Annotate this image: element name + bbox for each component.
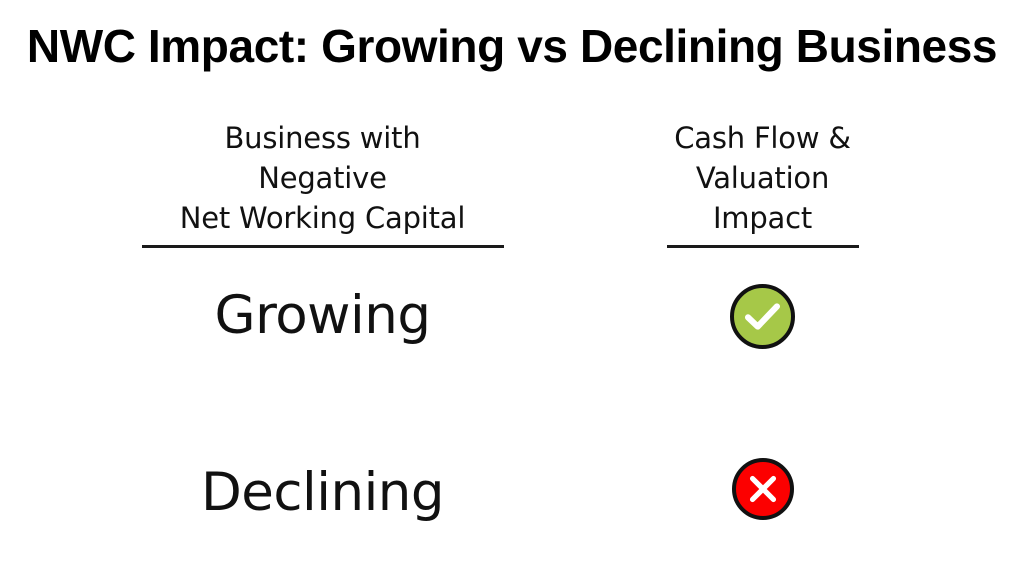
column-header-line-2: Negative [100,158,545,198]
table-column-business-type: Business with Negative Net Working Capit… [100,118,545,248]
table-column-impact: Cash Flow & Valuation Impact [600,118,925,248]
column-header-line-1: Business with [100,118,545,158]
column-header-divider [667,245,859,248]
column-header-line-1: Cash Flow & [600,118,925,158]
column-header-impact: Cash Flow & Valuation Impact [600,118,925,238]
table-row-growing-label: Growing [100,286,545,346]
table-cell-growing-impact [600,284,925,349]
comparison-table: Business with Negative Net Working Capit… [0,118,1024,558]
slide-canvas: NWC Impact: Growing vs Declining Busines… [0,0,1024,576]
column-header-line-2: Valuation [600,158,925,198]
column-header-divider [142,245,504,248]
column-header-business-type: Business with Negative Net Working Capit… [100,118,545,238]
check-circle-icon [730,284,795,349]
x-circle-icon [732,458,794,520]
column-header-line-3: Net Working Capital [100,198,545,238]
column-header-line-3: Impact [600,198,925,238]
table-cell-declining-impact [600,458,925,520]
page-title: NWC Impact: Growing vs Declining Busines… [0,18,1024,74]
table-row-declining-label: Declining [100,463,545,523]
